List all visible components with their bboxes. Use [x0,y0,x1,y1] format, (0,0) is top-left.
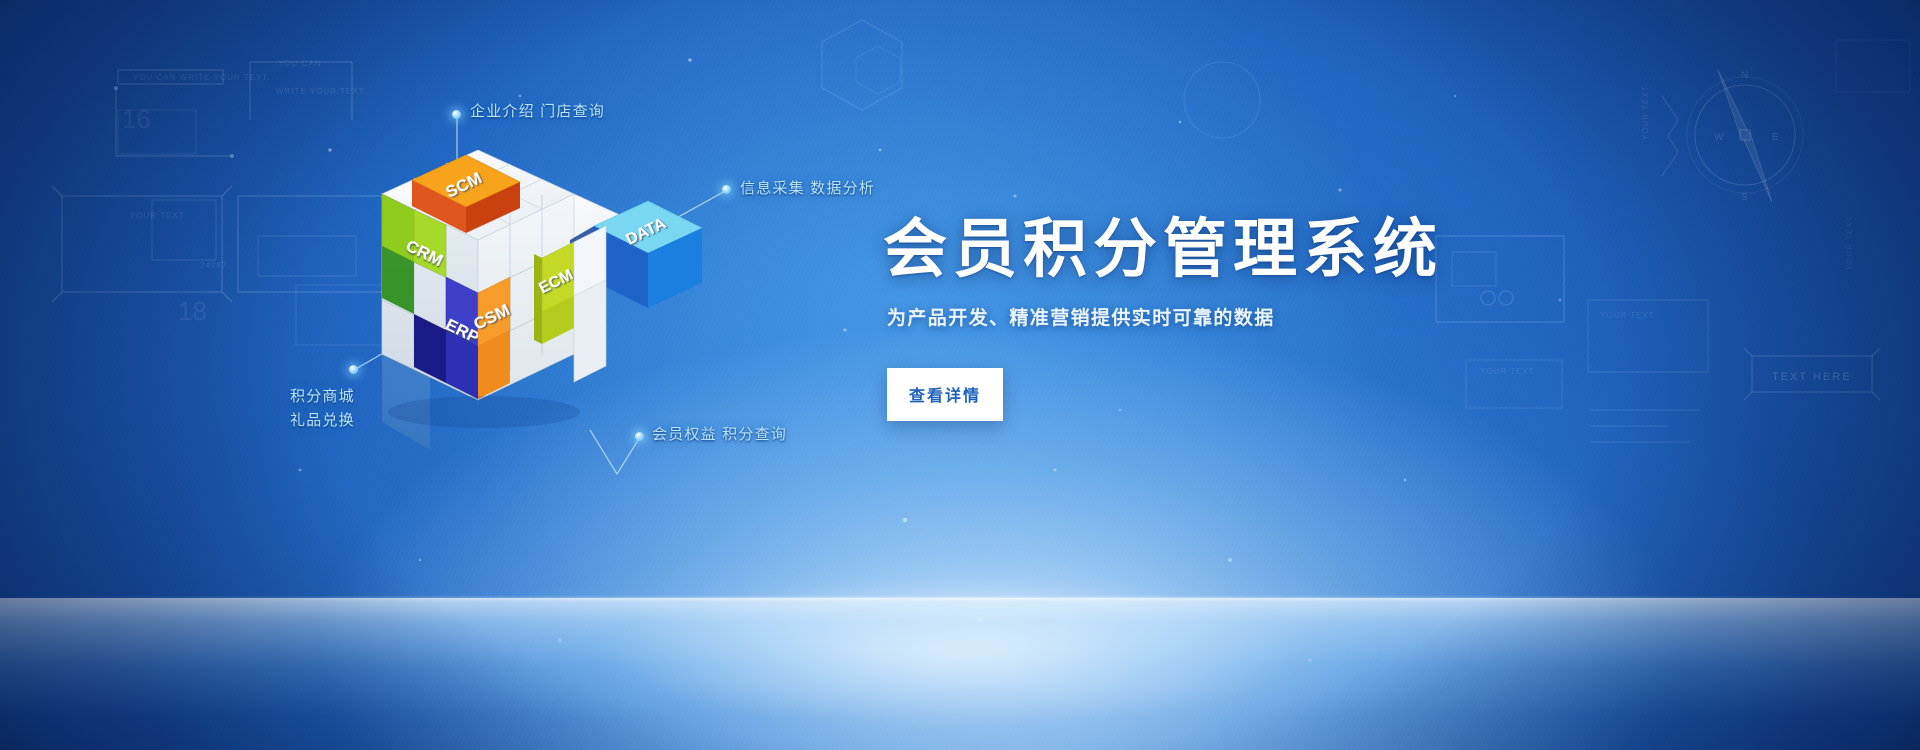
callout-bottom[interactable]: 会员权益 积分查询 [652,423,787,444]
svg-text:YOUR TEXT: YOUR TEXT [1845,215,1854,270]
svg-text:YOUR TEXT: YOUR TEXT [1600,311,1655,320]
svg-text:18: 18 [178,296,207,326]
page-title: 会员积分管理系统 [883,216,1603,283]
page-subtitle: 为产品开发、精准营销提供实时可靠的数据 [887,303,1603,330]
svg-text:YOUR TEXT: YOUR TEXT [130,211,185,220]
horizon-line [0,597,1920,600]
svg-text:E: E [1772,132,1779,143]
callout-left-line1[interactable]: 积分商城 [290,385,355,409]
svg-text:W: W [1714,132,1724,143]
hero-banner: YOU CAN WRITE YOUR TEXT YOUR TEXT 24087 … [0,0,1920,750]
hero-text-block: 会员积分管理系统 为产品开发、精准营销提供实时可靠的数据 查看详情 [883,216,1603,421]
svg-text:16: 16 [122,104,151,134]
svg-text:WRITE YOUR TEXT: WRITE YOUR TEXT [276,87,365,96]
svg-text:TEXT HERE: TEXT HERE [1772,371,1852,383]
callout-dot-top [452,110,461,119]
view-details-button[interactable]: 查看详情 [887,368,1003,421]
svg-text:N: N [1741,70,1748,81]
svg-text:YOU CAN WRITE YOUR TEXT: YOU CAN WRITE YOUR TEXT [133,73,268,82]
callout-top[interactable]: 企业介绍 门店查询 [470,100,605,121]
callout-dot-bottom [635,432,644,441]
callout-right[interactable]: 信息采集 数据分析 [740,177,875,198]
svg-text:S: S [1741,192,1748,203]
horizon-band [0,598,1920,750]
svg-text:YOU CAN: YOU CAN [278,59,321,68]
callout-left-line2[interactable]: 礼品兑换 [290,409,355,433]
floor-glow [430,560,1480,750]
rubik-cube-illustration: SCM CRM DATA [356,150,736,510]
callout-dot-left [349,365,358,374]
svg-text:YOUR TEXT: YOUR TEXT [1641,85,1650,140]
cube-block-ecm: ECM [534,242,576,344]
callout-dot-right [722,185,731,194]
svg-text:24087: 24087 [200,261,227,270]
